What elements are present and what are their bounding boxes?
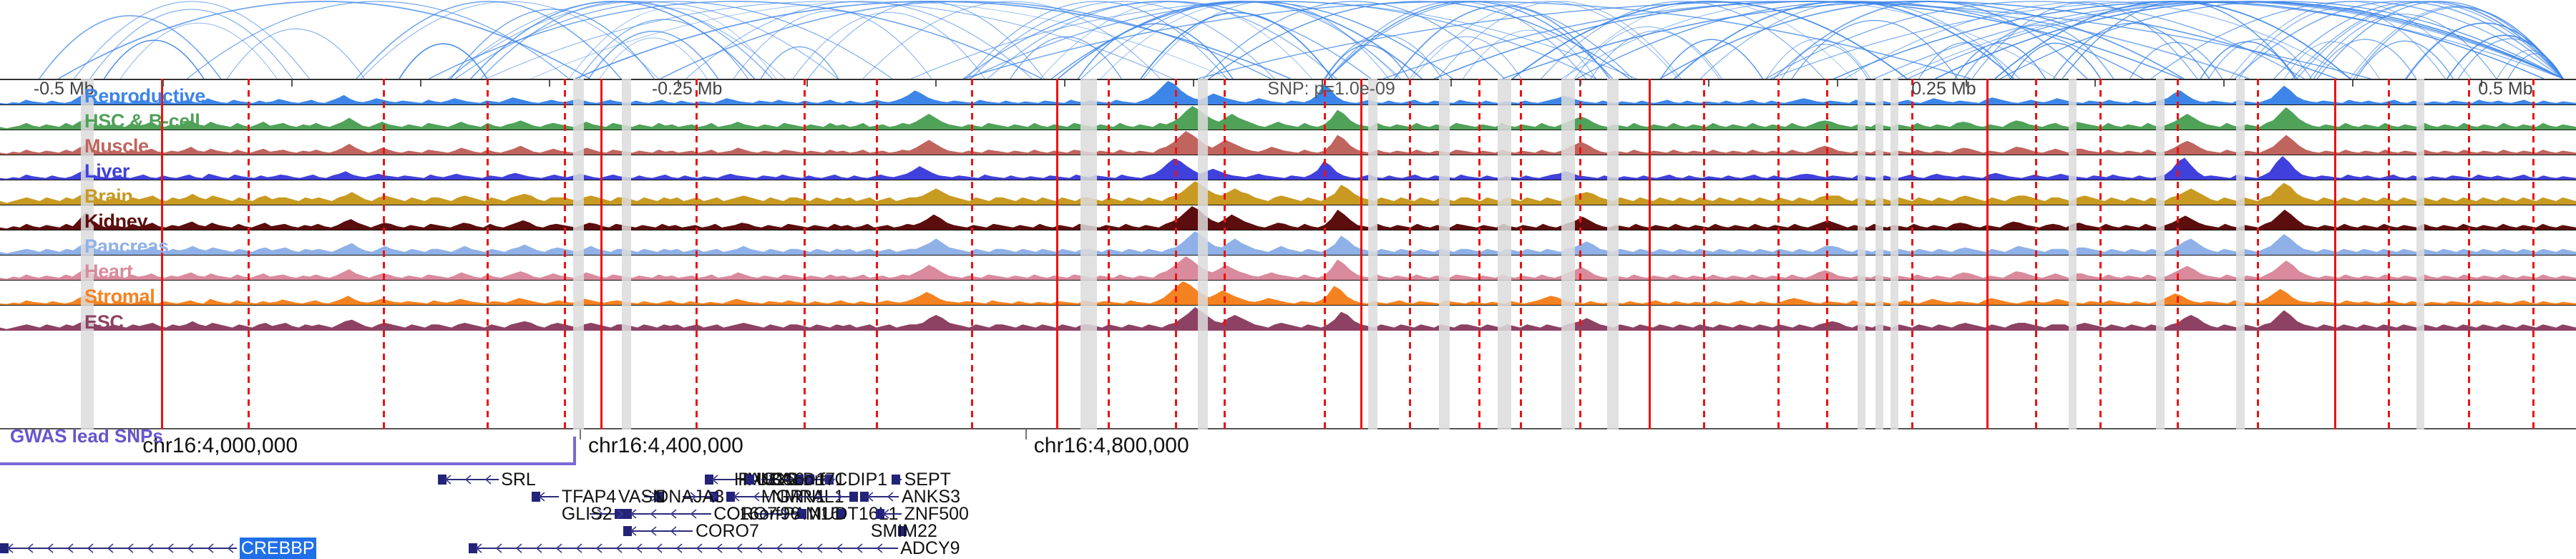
signal-track-kidney[interactable]: Kidney	[0, 205, 2576, 230]
strand-arrow-left	[208, 543, 214, 554]
gene-label-adcy9[interactable]: ADCY9	[900, 538, 960, 559]
gene-annotation-track: SRLPAM16HMOX2CDIP1UBALD1C16orf71SEPTTFAP…	[0, 469, 2576, 537]
coordinate-label: chr16:4,000,000	[142, 434, 298, 458]
strand-arrow-left	[67, 543, 74, 554]
strand-arrow-left	[756, 543, 763, 554]
genome-browser: Reproductive-0.5 Mb-0.25 MbSNP: p=1.0e-0…	[0, 0, 2576, 537]
ruler-tick	[1064, 80, 1065, 87]
signal-track-muscle[interactable]: Muscle	[0, 130, 2576, 155]
coordinate-tick	[580, 429, 581, 439]
track-label-liver: Liver	[84, 162, 130, 180]
strand-arrow-left	[630, 525, 637, 537]
strand-arrow-left	[836, 543, 843, 554]
strand-arrow-left	[670, 508, 677, 520]
ruler-tick	[806, 80, 808, 87]
strand-arrow-right	[836, 491, 842, 502]
ruler-tick	[2094, 80, 2096, 87]
strand-arrow-left	[496, 543, 502, 554]
strand-arrow-left	[716, 543, 723, 554]
strand-arrow-left	[485, 474, 492, 485]
strand-arrow-left	[445, 474, 452, 485]
strand-arrow-left	[187, 543, 194, 554]
signal-curve	[0, 281, 2576, 305]
ruler-tick	[1708, 80, 1709, 87]
strand-arrow-left	[887, 491, 894, 502]
strand-arrow-left	[47, 543, 54, 554]
gene-row: CREBBPADCY9	[0, 538, 2576, 559]
coordinate-label: chr16:4,800,000	[1034, 434, 1189, 458]
strand-arrow-left	[877, 543, 883, 554]
signal-curve	[0, 230, 2576, 255]
coordinate-row: chr16:4,000,000chr16:4,400,000chr16:4,80…	[0, 429, 2576, 464]
signal-curve	[0, 155, 2576, 180]
ruler-tick	[1579, 80, 1581, 87]
signal-track-esc[interactable]: ESC	[0, 306, 2576, 331]
strand-arrow-left	[465, 474, 472, 485]
track-label-stromal: Stromal	[84, 287, 155, 306]
strand-arrow-left	[539, 491, 545, 502]
signal-track-pancreas[interactable]: Pancreas	[0, 230, 2576, 256]
genomic-ruler: -0.5 Mb-0.25 MbSNP: p=1.0e-090.25 Mb0.5 …	[0, 80, 2576, 99]
strand-arrow-left	[857, 543, 863, 554]
ruler-tick	[935, 80, 937, 87]
strand-arrow-left	[691, 508, 697, 520]
ruler-label: -0.25 Mb	[652, 80, 723, 99]
strand-arrow-left	[883, 508, 889, 520]
signal-track-heart[interactable]: Heart	[0, 256, 2576, 281]
ruler-tick	[1193, 80, 1194, 87]
signal-curve	[0, 180, 2576, 205]
gene-exon	[746, 475, 754, 485]
ruler-tick	[420, 80, 421, 87]
track-label-kidney: Kidney	[84, 212, 147, 230]
signal-track-liver[interactable]: Liver	[0, 155, 2576, 180]
track-label-reproductive: Reproductive	[84, 87, 205, 105]
signal-curve	[0, 205, 2576, 230]
ruler-tick	[291, 80, 293, 87]
ruler-tick	[549, 80, 550, 87]
strand-arrow-left	[656, 543, 663, 554]
ruler-tick	[2223, 80, 2225, 87]
strand-arrow-left	[616, 543, 623, 554]
snp-pvalue-label: SNP: p=1.0e-09	[1267, 80, 1395, 99]
strand-arrow-left	[753, 491, 760, 502]
strand-arrow-left	[796, 543, 803, 554]
strand-arrow-left	[736, 543, 743, 554]
ruler-label: 0.25 Mb	[1911, 80, 1976, 99]
strand-arrow-left	[650, 508, 657, 520]
strand-arrow-left	[816, 543, 823, 554]
strand-arrow-right	[617, 508, 623, 520]
signal-curve	[0, 306, 2576, 331]
track-label-heart: Heart	[84, 262, 133, 281]
strand-arrow-left	[7, 543, 14, 554]
gene-label-crebbp[interactable]: CREBBP	[240, 538, 316, 559]
strand-arrow-left	[650, 525, 657, 537]
chromatin-loop-arcs	[0, 0, 2576, 79]
strand-arrow-left	[712, 474, 718, 485]
signal-curve	[0, 105, 2576, 130]
strand-arrow-left	[147, 543, 154, 554]
strand-arrow-left	[107, 543, 114, 554]
strand-arrow-left	[476, 543, 482, 554]
strand-arrow-left	[630, 508, 637, 520]
gwas-lead-snps-label: GWAS lead SNPs	[10, 425, 163, 447]
gene-body[interactable]	[0, 548, 237, 549]
signal-track-reproductive[interactable]: Reproductive-0.5 Mb-0.25 MbSNP: p=1.0e-0…	[0, 80, 2576, 105]
gene-body[interactable]	[469, 548, 897, 549]
track-label-esc: ESC	[84, 313, 124, 331]
track-label-pancreas: Pancreas	[84, 237, 169, 256]
strand-arrow-left	[167, 543, 174, 554]
signal-track-stromal[interactable]: Stromal	[0, 281, 2576, 306]
strand-arrow-left	[536, 543, 542, 554]
signal-track-stack: Reproductive-0.5 Mb-0.25 MbSNP: p=1.0e-0…	[0, 79, 2576, 429]
strand-arrow-left	[228, 543, 234, 554]
ruler-tick	[1837, 80, 1838, 87]
ruler-tick	[2352, 80, 2353, 87]
strand-arrow-left	[676, 543, 683, 554]
strand-arrow-left	[776, 543, 783, 554]
gene-exon	[892, 475, 900, 485]
strand-arrow-left	[127, 543, 134, 554]
strand-arrow-left	[670, 525, 677, 537]
gwas-baseline	[0, 462, 576, 465]
ruler-label: 0.5 Mb	[2478, 80, 2532, 99]
signal-track-hsc-b-cell[interactable]: HSC & B-cell	[0, 105, 2576, 130]
track-label-muscle: Muscle	[84, 137, 149, 155]
strand-arrow-left	[636, 543, 643, 554]
strand-arrow-left	[696, 543, 703, 554]
signal-track-brain[interactable]: Brain	[0, 180, 2576, 205]
strand-arrow-left	[516, 543, 522, 554]
coordinate-label: chr16:4,400,000	[588, 434, 743, 458]
strand-arrow-left	[576, 543, 582, 554]
strand-arrow-left	[596, 543, 602, 554]
strand-arrow-left	[27, 543, 34, 554]
gwas-connector	[573, 437, 576, 465]
strand-arrow-left	[556, 543, 562, 554]
track-label-brain: Brain	[84, 187, 133, 205]
gene-exon	[849, 492, 858, 502]
strand-arrow-left	[733, 491, 740, 502]
signal-curve	[0, 256, 2576, 280]
coordinate-tick	[1025, 429, 1027, 439]
strand-arrow-left	[867, 491, 874, 502]
ruler-tick	[1450, 80, 1452, 87]
signal-curve	[0, 130, 2576, 155]
track-label-hsc-b-cell: HSC & B-cell	[84, 112, 200, 130]
strand-arrow-left	[87, 543, 94, 554]
